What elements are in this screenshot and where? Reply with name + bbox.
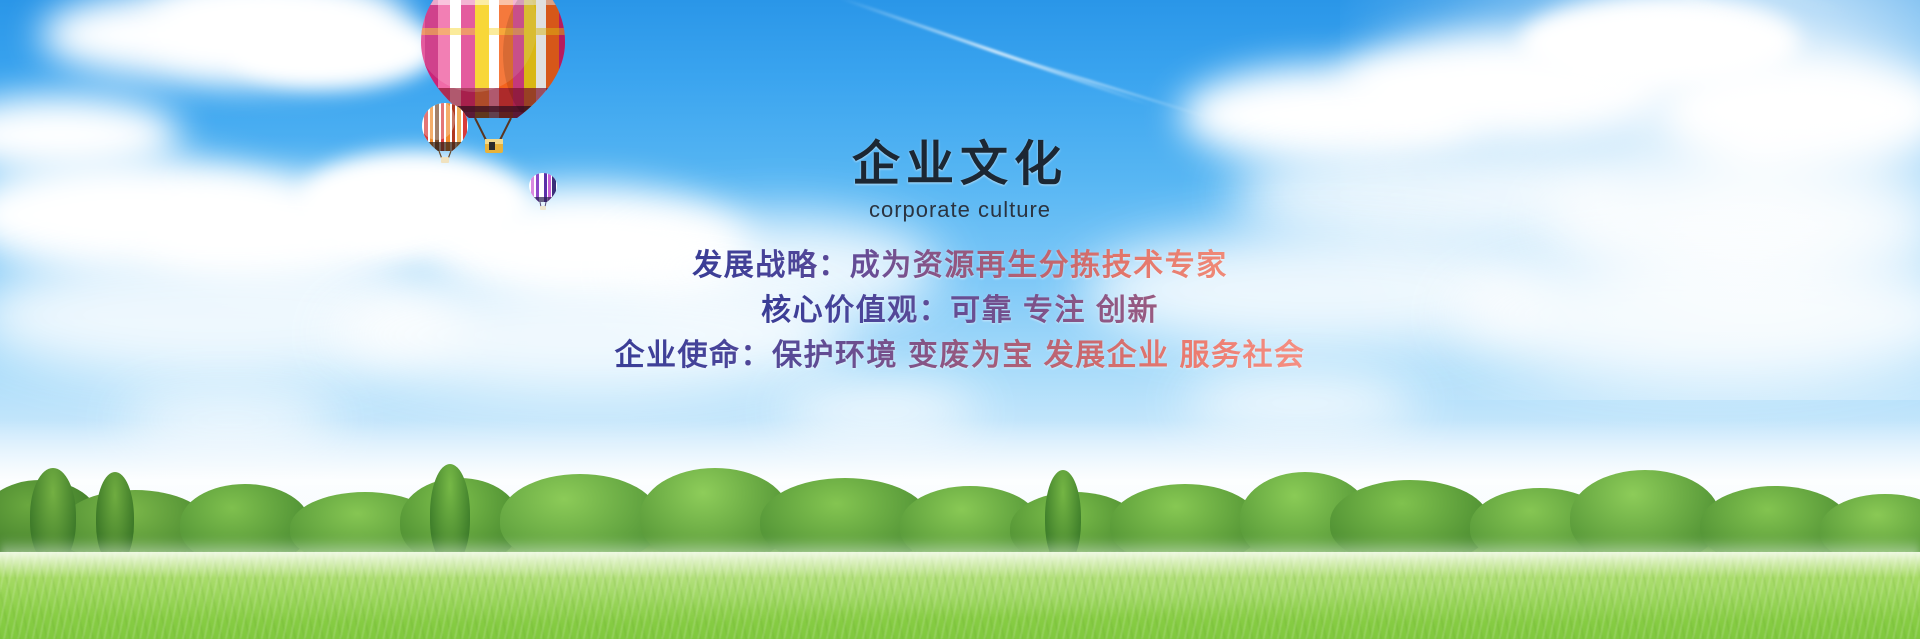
grass-field (0, 552, 1920, 639)
page-subtitle: corporate culture (0, 198, 1920, 222)
slogan-core-values: 核心价值观：可靠 专注 创新 (761, 291, 1159, 330)
corporate-culture-banner: 企业文化 corporate culture 发展战略：成为资源再生分拣技术专家… (0, 0, 1920, 639)
slogan-list: 发展战略：成为资源再生分拣技术专家 核心价值观：可靠 专注 创新 企业使命：保护… (0, 246, 1920, 375)
slogan-development-strategy: 发展战略：成为资源再生分拣技术专家 (692, 246, 1228, 285)
page-title: 企业文化 (0, 138, 1920, 192)
treeline (0, 452, 1920, 564)
banner-text-block: 企业文化 corporate culture 发展战略：成为资源再生分拣技术专家… (0, 138, 1920, 375)
grass-horizon-fade (0, 552, 1920, 578)
slogan-corporate-mission: 企业使命：保护环境 变废为宝 发展企业 服务社会 (614, 336, 1305, 375)
